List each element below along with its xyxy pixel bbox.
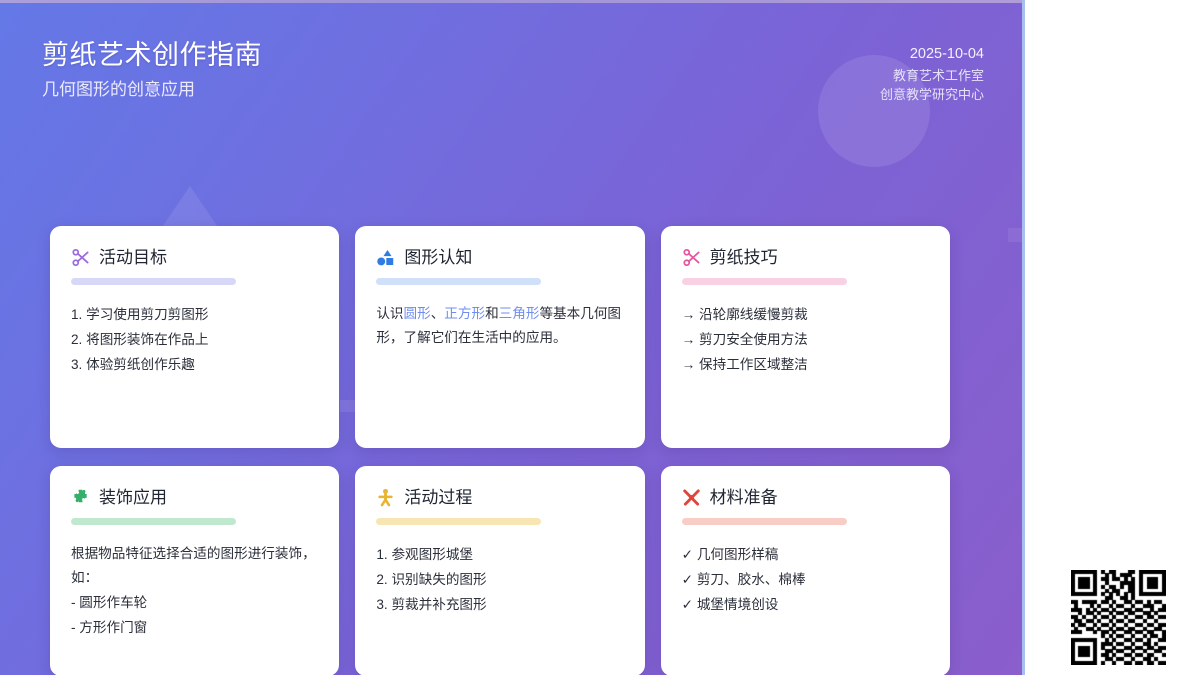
- card-accent-rule: [682, 278, 847, 285]
- qr-code-canvas: [1071, 570, 1166, 665]
- slide-header: 剪纸艺术创作指南 几何图形的创意应用 2025-10-04 教育艺术工作室 创意…: [0, 0, 1024, 150]
- highlighted-term: 三角形: [499, 306, 540, 321]
- card-accent-rule: [682, 518, 847, 525]
- card-decoration-application[interactable]: 装饰应用根据物品特征选择合适的图形进行装饰，如：- 圆形作车轮- 方形作门窗: [50, 466, 339, 675]
- list-item: 1. 学习使用剪刀剪图形: [71, 302, 318, 327]
- card-activity-process[interactable]: 活动过程1. 参观图形城堡2. 识别缺失的图形3. 剪裁并补充图形: [355, 466, 644, 675]
- list-item: ✓ 几何图形样稿: [682, 542, 929, 567]
- highlighted-term: 圆形: [404, 306, 431, 321]
- card-body: 认识圆形、正方形和三角形等基本几何图形，了解它们在生活中的应用。: [376, 302, 623, 350]
- card-title: 活动目标: [99, 249, 167, 266]
- list-item: 3. 体验剪纸创作乐趣: [71, 352, 318, 377]
- paragraph-text: 认识: [376, 306, 403, 321]
- card-paragraph: 根据物品特征选择合适的图形进行装饰，如：: [71, 542, 318, 590]
- card-accent-rule: [71, 518, 236, 525]
- list-item: ✓ 剪刀、胶水、棉棒: [682, 567, 929, 592]
- card-paragraph: 认识圆形、正方形和三角形等基本几何图形，了解它们在生活中的应用。: [376, 302, 623, 350]
- list-item: → 剪刀安全使用方法: [682, 327, 929, 352]
- card-accent-rule: [376, 278, 541, 285]
- card-row-top: 活动目标1. 学习使用剪刀剪图形2. 将图形装饰在作品上3. 体验剪纸创作乐趣图…: [50, 226, 950, 448]
- slide-right-edge: [1022, 0, 1025, 675]
- header-meta: 2025-10-04 教育艺术工作室 创意教学研究中心: [880, 44, 984, 105]
- card-body: 1. 学习使用剪刀剪图形2. 将图形装饰在作品上3. 体验剪纸创作乐趣: [71, 302, 318, 377]
- shapes-icon: [376, 248, 395, 267]
- card-header: 剪纸技巧: [682, 248, 929, 267]
- card-title: 材料准备: [710, 489, 778, 506]
- org-name-primary: 教育艺术工作室: [880, 66, 984, 86]
- list-item: - 方形作门窗: [71, 615, 318, 640]
- card-body: → 沿轮廓线缓慢剪裁→ 剪刀安全使用方法→ 保持工作区域整洁: [682, 302, 929, 377]
- card-body: 1. 参观图形城堡2. 识别缺失的图形3. 剪裁并补充图形: [376, 542, 623, 617]
- card-title: 装饰应用: [99, 489, 167, 506]
- page-subtitle: 几何图形的创意应用: [42, 79, 262, 101]
- list-item: → 沿轮廓线缓慢剪裁: [682, 302, 929, 327]
- person-icon: [376, 488, 395, 507]
- paragraph-text: 、: [431, 306, 445, 321]
- title-block: 剪纸艺术创作指南 几何图形的创意应用: [42, 38, 262, 101]
- presentation-date: 2025-10-04: [880, 44, 984, 66]
- list-item: 3. 剪裁并补充图形: [376, 592, 623, 617]
- org-name-secondary: 创意教学研究中心: [880, 85, 984, 105]
- card-header: 材料准备: [682, 488, 929, 507]
- card-activity-goal[interactable]: 活动目标1. 学习使用剪刀剪图形2. 将图形装饰在作品上3. 体验剪纸创作乐趣: [50, 226, 339, 448]
- screenshot-canvas: 剪纸艺术创作指南 几何图形的创意应用 2025-10-04 教育艺术工作室 创意…: [0, 0, 1200, 675]
- card-header: 活动目标: [71, 248, 318, 267]
- highlighted-term: 正方形: [444, 306, 485, 321]
- presentation-slide: 剪纸艺术创作指南 几何图形的创意应用 2025-10-04 教育艺术工作室 创意…: [0, 0, 1024, 675]
- card-header: 装饰应用: [71, 488, 318, 507]
- card-material-preparation[interactable]: 材料准备✓ 几何图形样稿✓ 剪刀、胶水、棉棒✓ 城堡情境创设: [661, 466, 950, 675]
- list-item: → 保持工作区域整洁: [682, 352, 929, 377]
- tools-icon: [682, 488, 701, 507]
- page-title: 剪纸艺术创作指南: [42, 38, 262, 73]
- list-item: 2. 识别缺失的图形: [376, 567, 623, 592]
- card-papercut-technique[interactable]: 剪纸技巧→ 沿轮廓线缓慢剪裁→ 剪刀安全使用方法→ 保持工作区域整洁: [661, 226, 950, 448]
- card-accent-rule: [376, 518, 541, 525]
- puzzle-icon: [71, 488, 90, 507]
- list-item: 2. 将图形装饰在作品上: [71, 327, 318, 352]
- card-title: 图形认知: [404, 249, 472, 266]
- paragraph-text: 和: [485, 306, 499, 321]
- scissors-icon: [682, 248, 701, 267]
- content-card-grid: 活动目标1. 学习使用剪刀剪图形2. 将图形装饰在作品上3. 体验剪纸创作乐趣图…: [50, 226, 950, 675]
- list-item: - 圆形作车轮: [71, 590, 318, 615]
- card-accent-rule: [71, 278, 236, 285]
- scissors-icon: [71, 248, 90, 267]
- qr-code[interactable]: [1071, 570, 1166, 665]
- card-header: 活动过程: [376, 488, 623, 507]
- card-shape-cognition[interactable]: 图形认知认识圆形、正方形和三角形等基本几何图形，了解它们在生活中的应用。: [355, 226, 644, 448]
- card-row-bottom: 装饰应用根据物品特征选择合适的图形进行装饰，如：- 圆形作车轮- 方形作门窗活动…: [50, 466, 950, 675]
- card-title: 活动过程: [404, 489, 472, 506]
- card-body: ✓ 几何图形样稿✓ 剪刀、胶水、棉棒✓ 城堡情境创设: [682, 542, 929, 617]
- card-header: 图形认知: [376, 248, 623, 267]
- list-item: ✓ 城堡情境创设: [682, 592, 929, 617]
- card-title: 剪纸技巧: [710, 249, 778, 266]
- card-body: 根据物品特征选择合适的图形进行装饰，如：- 圆形作车轮- 方形作门窗: [71, 542, 318, 640]
- list-item: 1. 参观图形城堡: [376, 542, 623, 567]
